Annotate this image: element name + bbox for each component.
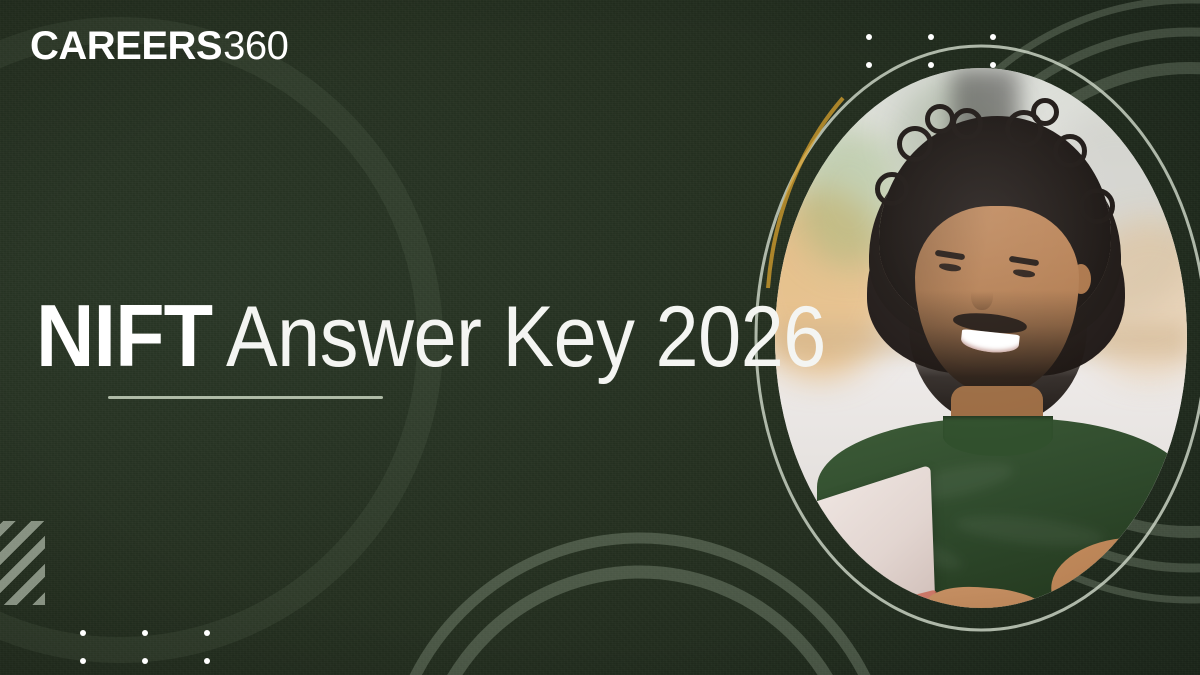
logo-careers-text: CAREERS [30,26,222,66]
dot [80,658,86,664]
title-underline-rule [108,396,383,399]
dot [142,630,148,636]
dot [204,658,210,664]
dot [142,658,148,664]
careers360-logo[interactable]: CAREERS 360 [30,26,288,66]
logo-360-text: 360 [223,26,288,66]
dot [204,630,210,636]
page-title: NIFT Answer Key 2026 [36,292,893,380]
diagonal-stripe-decoration [0,521,45,605]
page-title-emphasis: NIFT [36,292,212,380]
nift-answer-key-banner: CAREERS 360 NIFT Answer Key 2026 [0,0,1200,675]
dot [80,630,86,636]
page-title-rest: Answer Key 2026 [226,294,826,380]
dot-grid-bottom-left [80,630,266,675]
